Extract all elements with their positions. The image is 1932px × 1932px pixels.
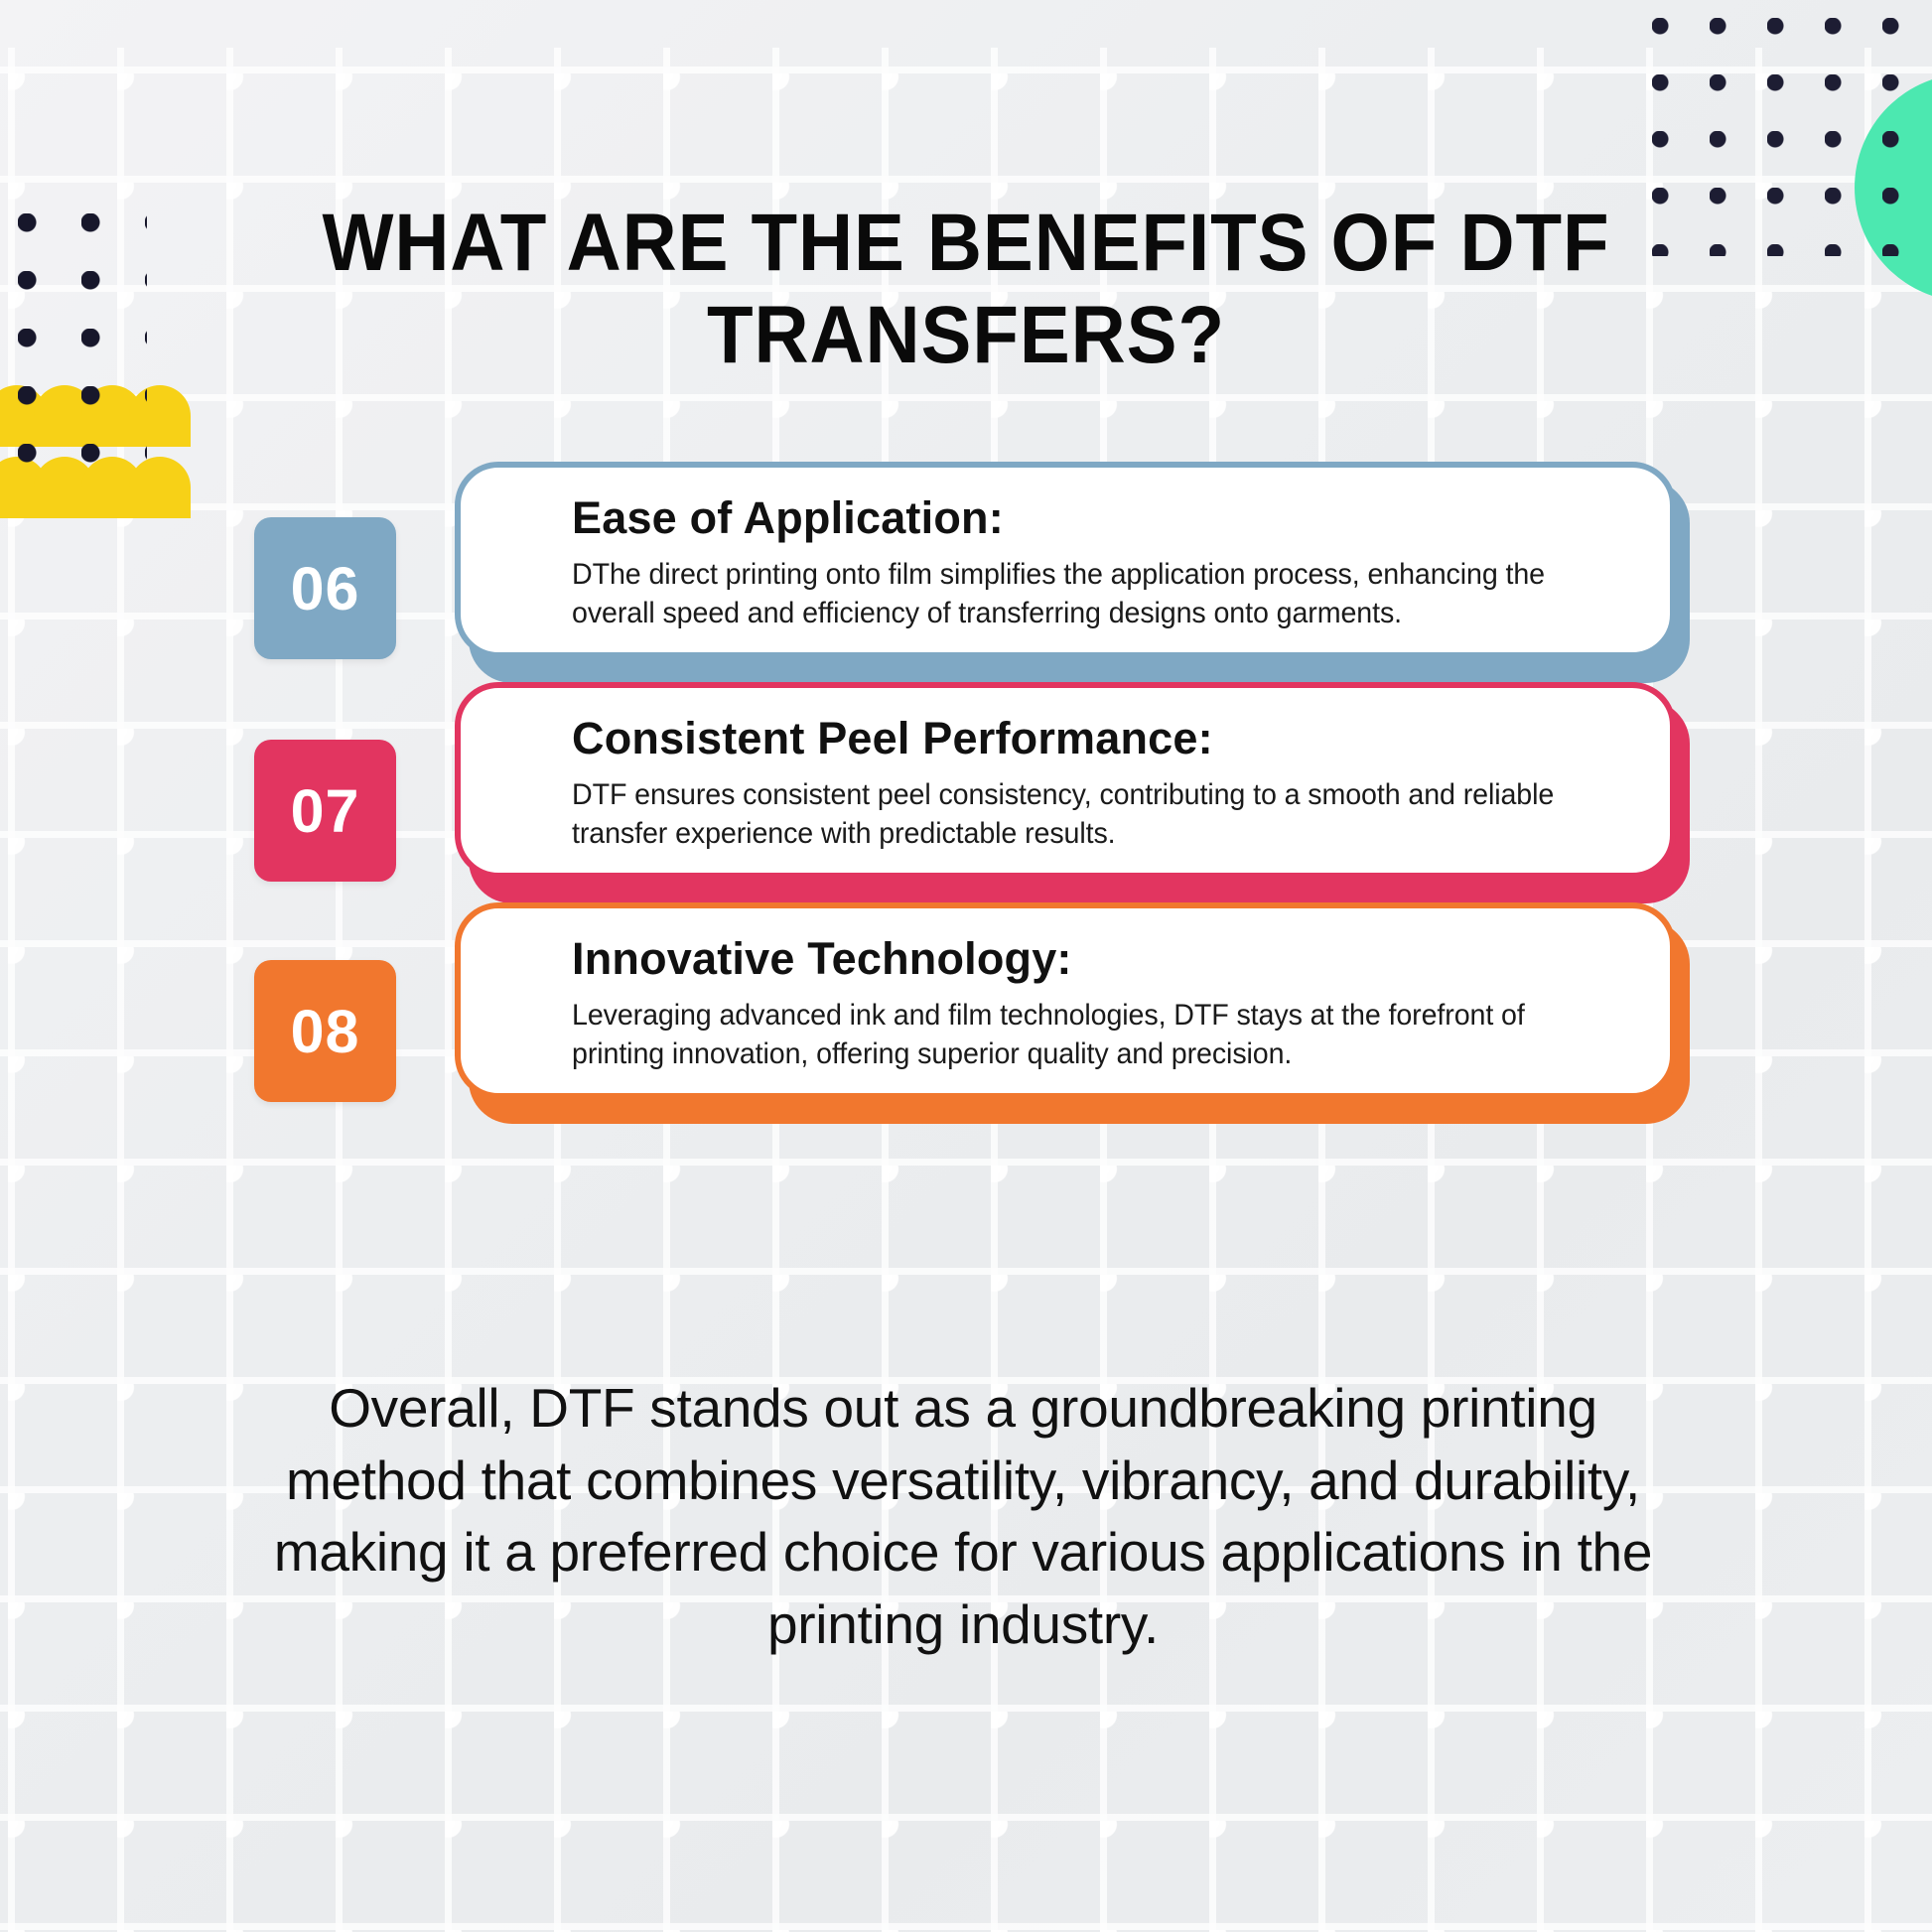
benefit-heading: Consistent Peel Performance: [572,714,1628,763]
benefit-number: 08 [291,997,360,1066]
benefit-description: Leveraging advanced ink and film technol… [572,996,1596,1073]
navy-dot-grid-decoration [1652,18,1900,256]
benefit-heading: Innovative Technology: [572,934,1628,984]
benefit-card-08[interactable]: Innovative Technology: Leveraging advanc… [455,902,1676,1099]
summary-paragraph: Overall, DTF stands out as a groundbreak… [253,1372,1673,1660]
benefit-number-badge-06: 06 [254,517,396,659]
benefit-description: DThe direct printing onto film simplifie… [572,555,1596,632]
benefit-number: 07 [291,776,360,846]
benefit-number: 06 [291,554,360,623]
page-title: WHAT ARE THE BENEFITS OF DTF TRANSFERS? [264,197,1668,382]
benefit-card-07[interactable]: Consistent Peel Performance: DTF ensures… [455,682,1676,879]
benefit-card-06[interactable]: Ease of Application: DThe direct printin… [455,462,1676,658]
infographic-canvas: WHAT ARE THE BENEFITS OF DTF TRANSFERS? … [0,0,1932,1932]
benefit-number-badge-07: 07 [254,740,396,882]
benefit-description: DTF ensures consistent peel consistency,… [572,775,1596,853]
benefit-number-badge-08: 08 [254,960,396,1102]
benefit-heading: Ease of Application: [572,493,1628,543]
benefit-row-08: Innovative Technology: Leveraging advanc… [0,893,1932,1153]
